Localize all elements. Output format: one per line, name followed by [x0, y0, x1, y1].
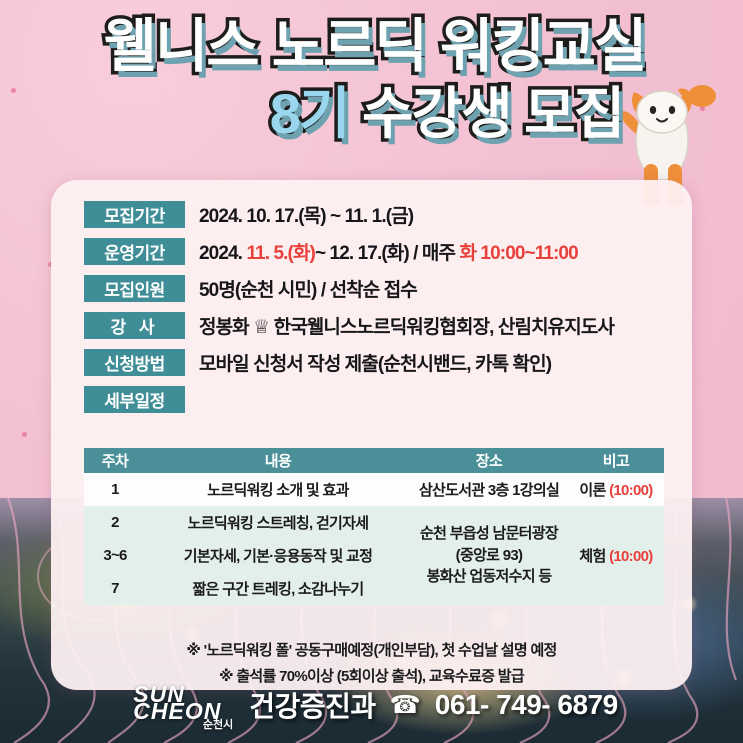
operating-period-middle: ~ 12. 17.(화) / 매주	[315, 243, 460, 264]
info-label-operating-period: 운영기간	[84, 238, 185, 265]
place-line-2: (중앙로 93)	[410, 545, 568, 567]
footer-department: 건강증진과	[249, 685, 375, 725]
cell-remark-1: 이론 (10:00)	[568, 473, 664, 506]
cell-place-1: 삼산도서관 3층 1강의실	[410, 473, 568, 506]
schedule-table-wrapper: 주차 내용 장소 비고 1 노르딕워킹 소개 및 효과 삼산도서관 3층 1강의…	[84, 448, 664, 605]
operating-period-weekly-time: 화 10:00~11:00	[459, 243, 577, 264]
remark-time-experience: (10:00)	[609, 548, 652, 565]
remark-time-theory: (10:00)	[609, 482, 652, 499]
info-value-operating-period: 2024. 11. 5.(화)~ 12. 17.(화) / 매주 화 10:00…	[199, 238, 578, 265]
cell-week-4: 7	[84, 572, 146, 605]
info-label-capacity: 모집인원	[84, 275, 185, 302]
phone-icon: ☎	[390, 690, 421, 720]
table-row: 1 노르딕워킹 소개 및 효과 삼산도서관 3층 1강의실 이론 (10:00)	[84, 473, 664, 506]
footer-phone-number: 061- 749- 6879	[435, 689, 618, 721]
cell-week-1: 1	[84, 473, 146, 506]
info-row-apply-method: 신청방법 모바일 신청서 작성 제출(순천시밴드, 카톡 확인)	[84, 344, 664, 381]
info-row-list: 모집기간 2024. 10. 17.(목) ~ 11. 1.(금) 운영기간 2…	[84, 196, 664, 418]
cell-content-3: 기본자세, 기본·응용동작 및 교정	[146, 539, 410, 572]
info-row-instructor: 강 사 정봉화 ♕ 한국웰니스노르딕워킹협회장, 산림치유지도사	[84, 307, 664, 344]
cell-week-3: 3~6	[84, 539, 146, 572]
info-row-recruit-period: 모집기간 2024. 10. 17.(목) ~ 11. 1.(금)	[84, 196, 664, 233]
info-label-instructor: 강 사	[84, 312, 185, 339]
operating-period-start-date: 11. 5.(화)	[246, 243, 315, 264]
note-pole-purchase: ※ '노르딕워킹 폴' 공동구매예정(개인부담), 첫 수업날 설명 예정	[51, 638, 692, 664]
decorative-dot	[11, 88, 16, 93]
info-row-detail-schedule: 세부일정	[84, 381, 664, 418]
info-label-recruit-period: 모집기간	[84, 201, 185, 228]
suncheon-logo: SUN CHEON 순천시	[125, 679, 235, 731]
cell-remark-merged: 체험 (10:00)	[568, 506, 664, 605]
info-value-capacity: 50명(순천 시민) / 선착순 접수	[199, 275, 417, 302]
info-value-recruit-period: 2024. 10. 17.(목) ~ 11. 1.(금)	[199, 201, 413, 228]
cell-content-1: 노르딕워킹 소개 및 효과	[146, 473, 410, 506]
table-header-row: 주차 내용 장소 비고	[84, 448, 664, 473]
operating-period-prefix: 2024.	[199, 243, 246, 264]
column-header-place: 장소	[410, 448, 568, 473]
info-value-apply-method: 모바일 신청서 작성 제출(순천시밴드, 카톡 확인)	[199, 349, 551, 376]
footer: SUN CHEON 순천시 건강증진과 ☎ 061- 749- 6879	[0, 675, 743, 735]
decorative-dot	[22, 432, 27, 437]
remark-label-theory: 이론	[579, 482, 605, 499]
schedule-table: 주차 내용 장소 비고 1 노르딕워킹 소개 및 효과 삼산도서관 3층 1강의…	[84, 448, 664, 605]
info-row-operating-period: 운영기간 2024. 11. 5.(화)~ 12. 17.(화) / 매주 화 …	[84, 233, 664, 270]
column-header-remark: 비고	[568, 448, 664, 473]
cell-week-2: 2	[84, 506, 146, 539]
info-label-apply-method: 신청방법	[84, 349, 185, 376]
cell-content-4: 짧은 구간 트레킹, 소감나누기	[146, 572, 410, 605]
cell-place-merged: 순천 부읍성 남문터광장 (중앙로 93) 봉화산 업동저수지 등	[410, 506, 568, 605]
table-row: 2 노르딕워킹 스트레칭, 걷기자세 순천 부읍성 남문터광장 (중앙로 93)…	[84, 506, 664, 539]
column-header-week: 주차	[84, 448, 146, 473]
place-line-3: 봉화산 업동저수지 등	[410, 566, 568, 588]
logo-text-city: 순천시	[203, 716, 233, 732]
cell-content-2: 노르딕워킹 스트레칭, 걷기자세	[146, 506, 410, 539]
info-label-detail-schedule: 세부일정	[84, 386, 185, 413]
info-row-capacity: 모집인원 50명(순천 시민) / 선착순 접수	[84, 270, 664, 307]
column-header-content: 내용	[146, 448, 410, 473]
place-line-1: 순천 부읍성 남문터광장	[410, 523, 568, 545]
remark-label-experience: 체험	[579, 548, 605, 565]
info-card: 모집기간 2024. 10. 17.(목) ~ 11. 1.(금) 운영기간 2…	[51, 180, 692, 690]
decorative-dot	[330, 48, 335, 53]
poster-root: 웰니스 노르딕 워킹교실 8기 수강생 모집 모집기간 2024. 10. 17…	[0, 0, 743, 743]
info-value-instructor: 정봉화 ♕ 한국웰니스노르딕워킹협회장, 산림치유지도사	[199, 312, 614, 339]
